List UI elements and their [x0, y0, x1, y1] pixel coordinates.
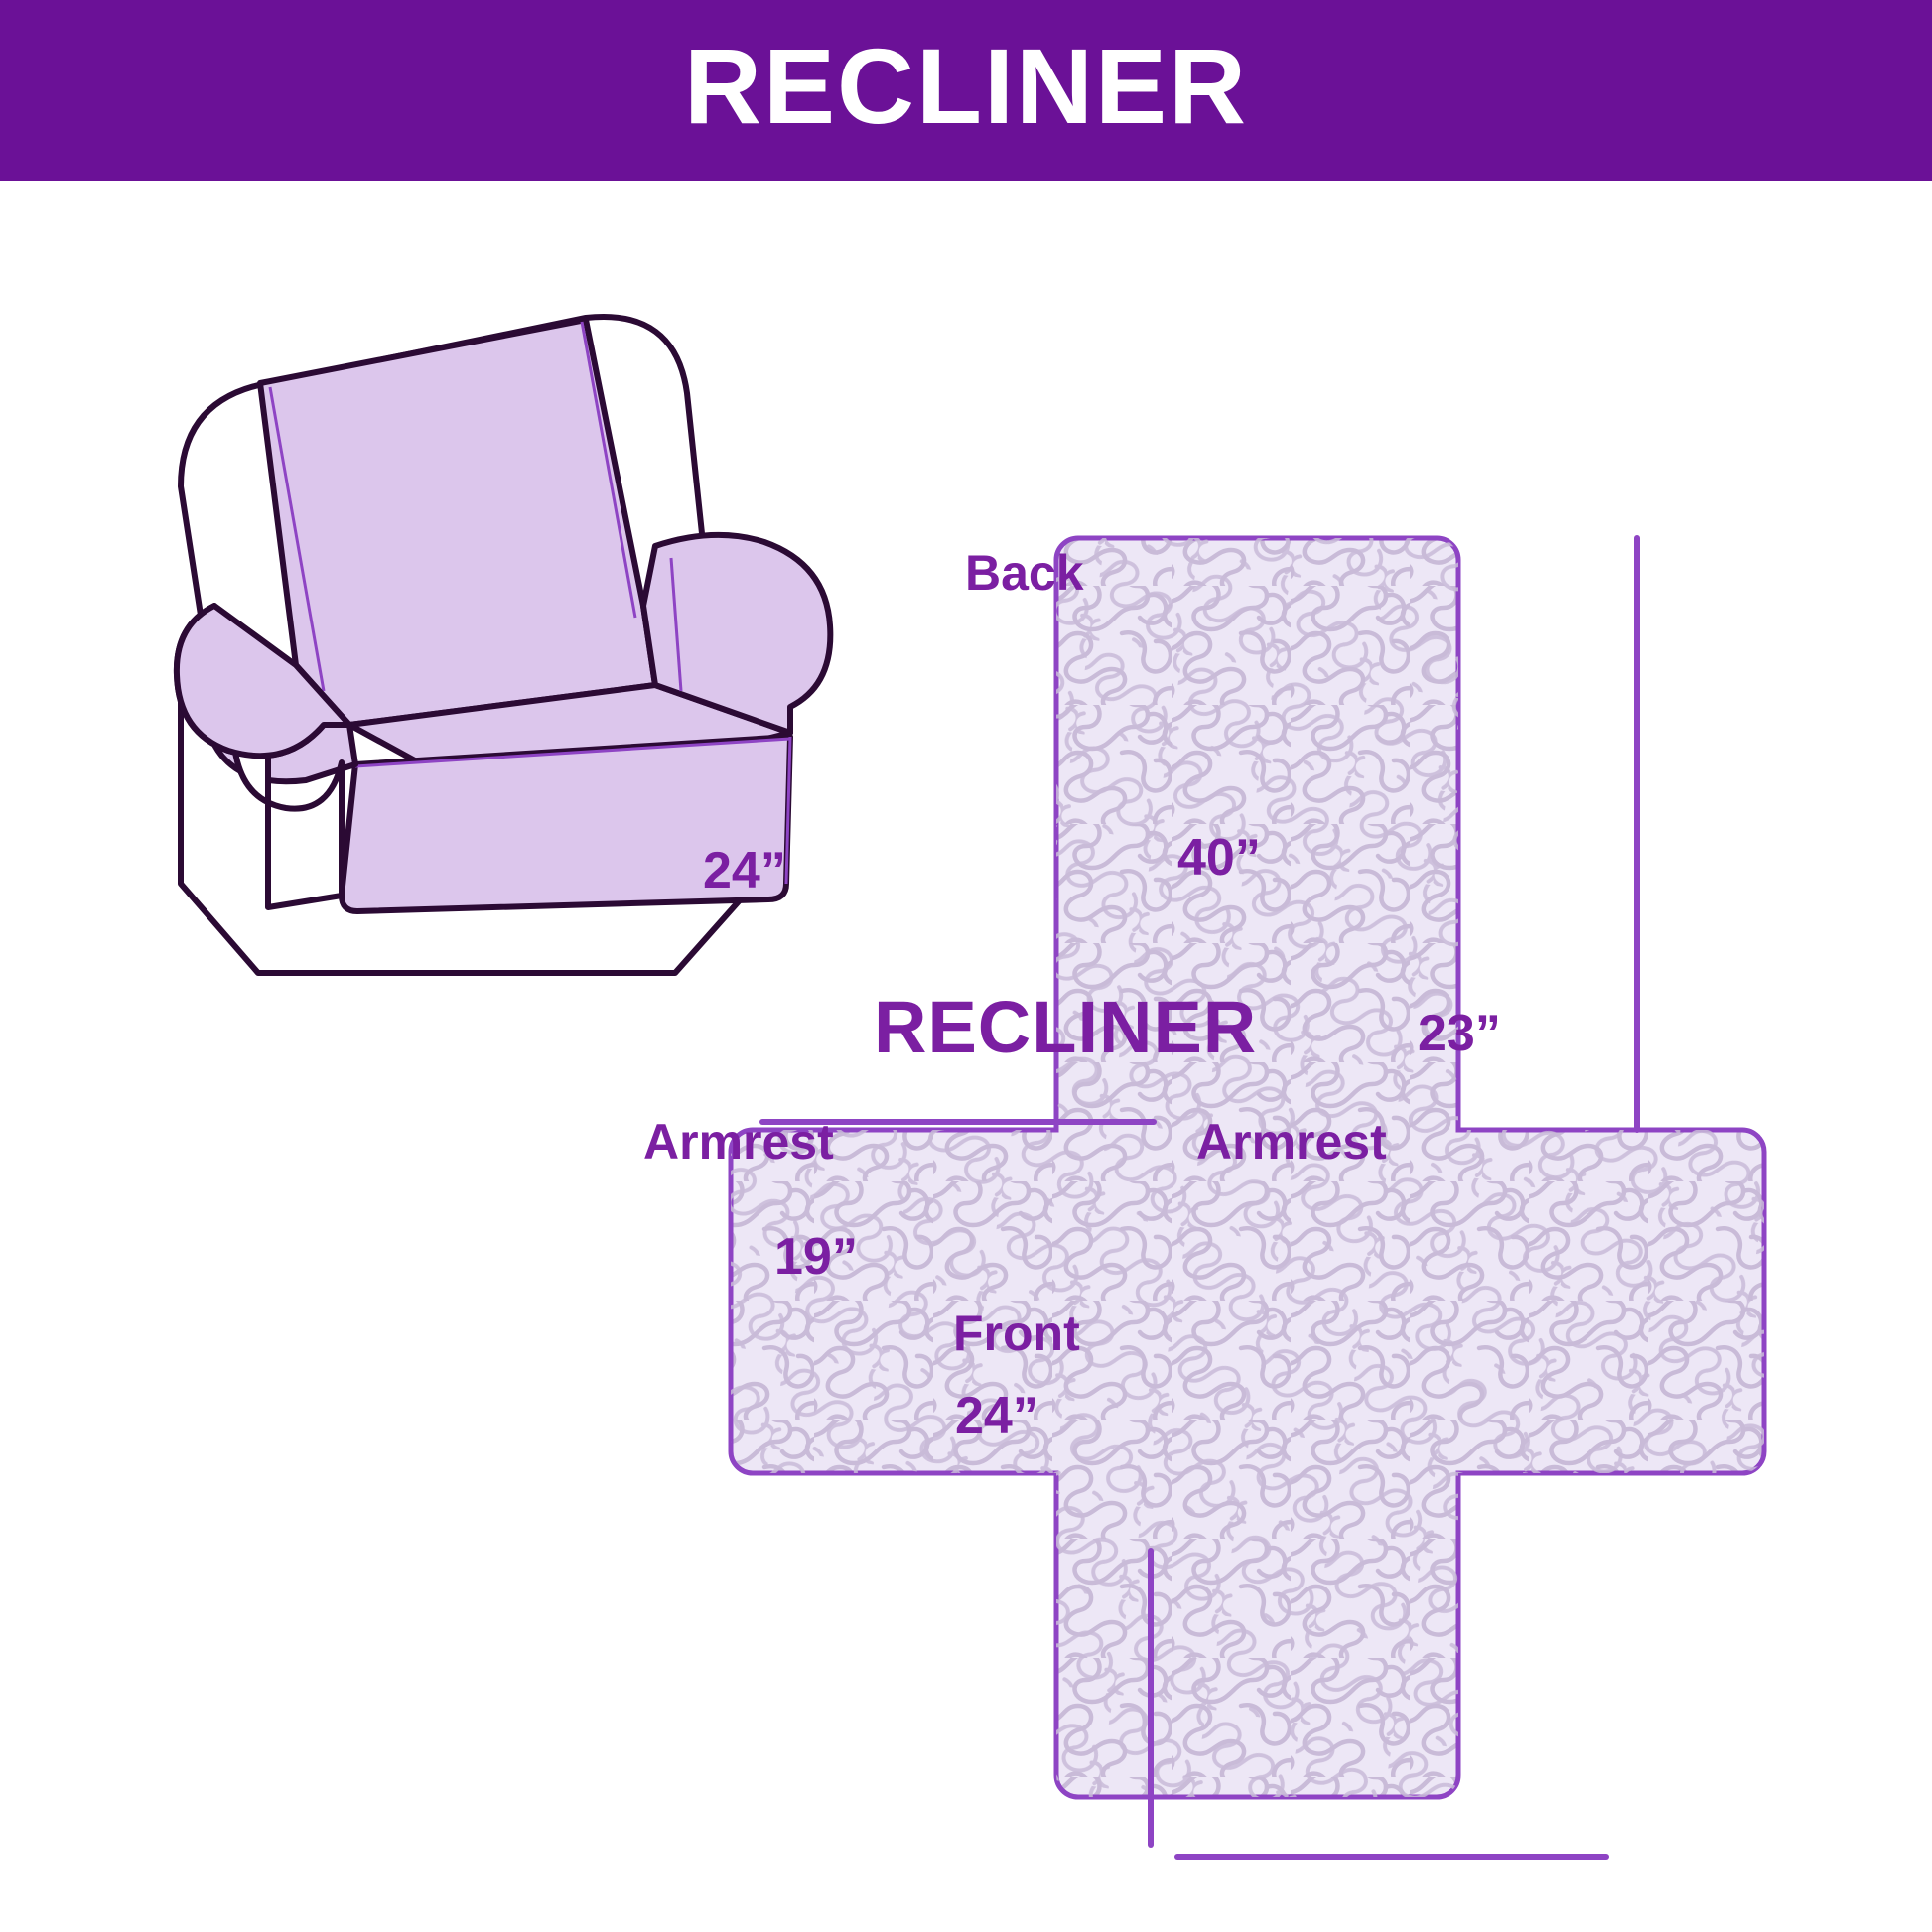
- diagram-center-label: RECLINER: [874, 991, 1257, 1064]
- page-title: RECLINER: [684, 33, 1248, 140]
- panel-label-front: Front: [953, 1309, 1080, 1358]
- dimension-label-armrest-width: 24”: [703, 845, 786, 897]
- cover-cross-shape: [695, 467, 1932, 1876]
- dimension-label-front-width: 24”: [955, 1390, 1038, 1442]
- cross-diagram-svg: [695, 467, 1932, 1876]
- cover-layout-diagram: Back RECLINER Armrest Armrest Front 40” …: [695, 467, 1932, 1876]
- dimension-label-front-length: 19”: [774, 1231, 858, 1283]
- page-header-banner: RECLINER: [0, 0, 1932, 181]
- panel-label-armrest-left: Armrest: [643, 1117, 834, 1167]
- panel-label-armrest-right: Armrest: [1196, 1117, 1387, 1167]
- panel-label-back: Back: [965, 548, 1084, 598]
- dimension-label-back-length: 40”: [1177, 832, 1261, 884]
- screenshot-canvas: RECLINER .ol{fill:none;stroke:#2B0A34;st…: [0, 0, 1932, 1932]
- dimension-label-armrest-depth: 23”: [1418, 1008, 1501, 1059]
